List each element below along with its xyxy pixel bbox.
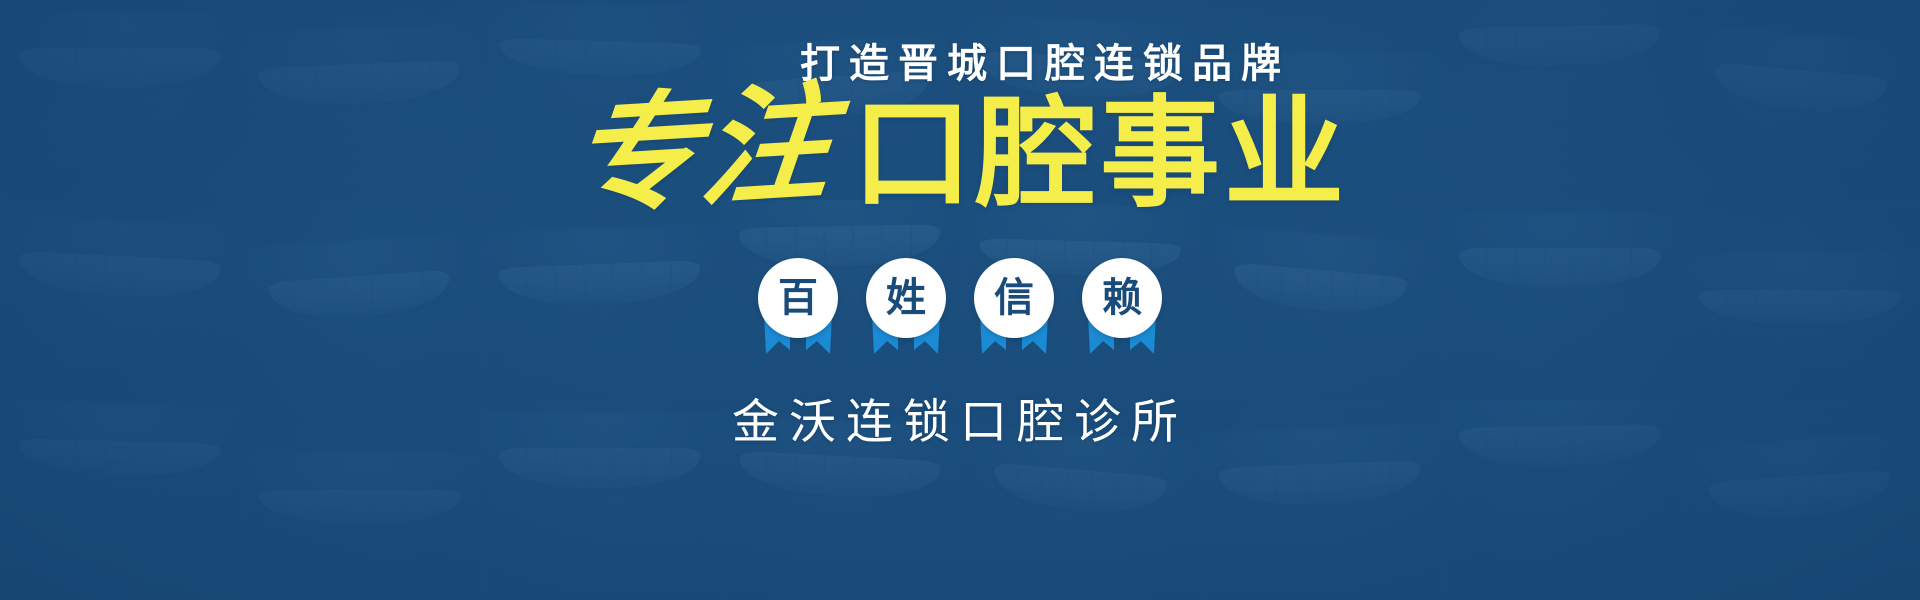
trust-badge: 信 xyxy=(974,258,1054,338)
banner-kicker-text: 打造晋城口腔连锁品牌 xyxy=(0,44,1920,84)
trust-badge-label: 赖 xyxy=(1082,258,1162,338)
trust-badge: 赖 xyxy=(1082,258,1162,338)
trust-badge: 百 xyxy=(758,258,838,338)
trust-badge-label: 姓 xyxy=(866,258,946,338)
trust-badge-label: 百 xyxy=(758,258,838,338)
headline-block-text: 口腔事业 xyxy=(852,94,1348,214)
headline-brush-text: 专注 xyxy=(565,78,854,222)
banner-headline: 专注 口腔事业 xyxy=(0,84,1920,214)
trust-badge-row: 百 姓 信 赖 xyxy=(0,258,1920,338)
banner-content: 打造晋城口腔连锁品牌 专注 口腔事业 百 姓 xyxy=(0,0,1920,600)
dental-clinic-banner: 打造晋城口腔连锁品牌 专注 口腔事业 百 姓 xyxy=(0,0,1920,600)
trust-badge: 姓 xyxy=(866,258,946,338)
clinic-name-text: 金沃连锁口腔诊所 xyxy=(0,398,1920,445)
trust-badge-label: 信 xyxy=(974,258,1054,338)
